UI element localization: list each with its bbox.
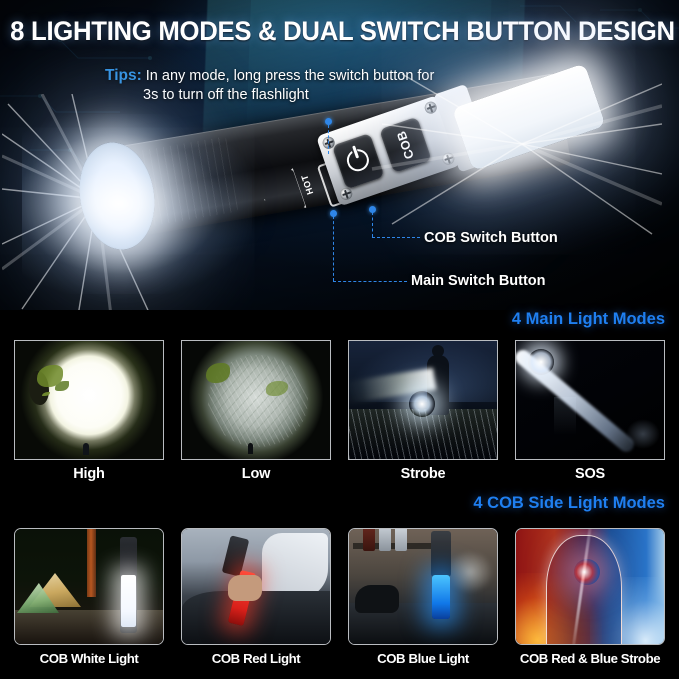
scene-sos [516, 341, 664, 459]
callout-line-cob-horizontal [372, 237, 420, 238]
scene-cob-red-blue-strobe [516, 529, 664, 644]
power-icon [344, 146, 372, 174]
main-modes-grid: High Low Strobe SOS [0, 340, 679, 482]
screw-icon [339, 186, 354, 201]
mode-cell-cob-red[interactable]: COB Red Light [181, 528, 331, 666]
tips-text-1: In any mode, long press the switch butto… [146, 68, 435, 84]
callout-line-top [328, 125, 329, 154]
main-switch-button[interactable] [332, 133, 385, 190]
mode-label-low: Low [181, 466, 331, 482]
page-title: 8 LIGHTING MODES & DUAL SWITCH BUTTON DE… [10, 16, 669, 47]
callout-label-cob-switch: COB Switch Button [424, 230, 558, 246]
section-heading-main-modes: 4 Main Light Modes [512, 310, 665, 329]
scene-cob-red [182, 529, 330, 644]
callout-line-main-horizontal [333, 281, 407, 282]
cob-modes-grid: COB White Light COB Red Light COB Blue L… [0, 528, 679, 666]
mode-thumbnail-strobe[interactable] [348, 340, 498, 460]
mode-label-cob-white: COB White Light [14, 651, 164, 666]
mode-thumbnail-cob-red-blue-strobe[interactable] [515, 528, 665, 645]
mode-label-cob-blue: COB Blue Light [348, 651, 498, 666]
scene-cob-white [15, 529, 163, 644]
mode-cell-high[interactable]: High [14, 340, 164, 482]
mode-cell-cob-white[interactable]: COB White Light [14, 528, 164, 666]
mode-cell-cob-red-blue-strobe[interactable]: COB Red & Blue Strobe [515, 528, 665, 666]
mode-label-cob-red-blue-strobe: COB Red & Blue Strobe [515, 651, 665, 666]
mode-thumbnail-low[interactable] [181, 340, 331, 460]
mode-thumbnail-cob-blue[interactable] [348, 528, 498, 645]
cob-button-label: COB [394, 129, 417, 161]
mode-cell-strobe[interactable]: Strobe [348, 340, 498, 482]
mode-cell-low[interactable]: Low [181, 340, 331, 482]
mode-label-cob-red: COB Red Light [181, 651, 331, 666]
callout-dot-top [325, 118, 332, 125]
callout-line-cob-vertical [372, 212, 373, 237]
mode-thumbnail-cob-red[interactable] [181, 528, 331, 645]
callout-line-main-vertical [333, 216, 334, 281]
mode-cell-sos[interactable]: SOS [515, 340, 665, 482]
mode-thumbnail-cob-white[interactable] [14, 528, 164, 645]
cob-switch-button[interactable]: COB [379, 117, 432, 174]
mode-cell-cob-blue[interactable]: COB Blue Light [348, 528, 498, 666]
mode-thumbnail-sos[interactable] [515, 340, 665, 460]
mode-thumbnail-high[interactable] [14, 340, 164, 460]
scene-low [182, 341, 330, 459]
mode-label-strobe: Strobe [348, 466, 498, 482]
scene-cob-blue [349, 529, 497, 644]
mode-label-high: High [14, 466, 164, 482]
callout-label-main-switch: Main Switch Button [411, 273, 546, 289]
hero-banner: 8 LIGHTING MODES & DUAL SWITCH BUTTON DE… [0, 0, 679, 310]
tips-keyword: Tips: [105, 67, 142, 84]
scene-strobe [349, 341, 497, 459]
scene-high [15, 341, 163, 459]
section-heading-cob-modes: 4 COB Side Light Modes [473, 494, 665, 513]
mode-label-sos: SOS [515, 466, 665, 482]
